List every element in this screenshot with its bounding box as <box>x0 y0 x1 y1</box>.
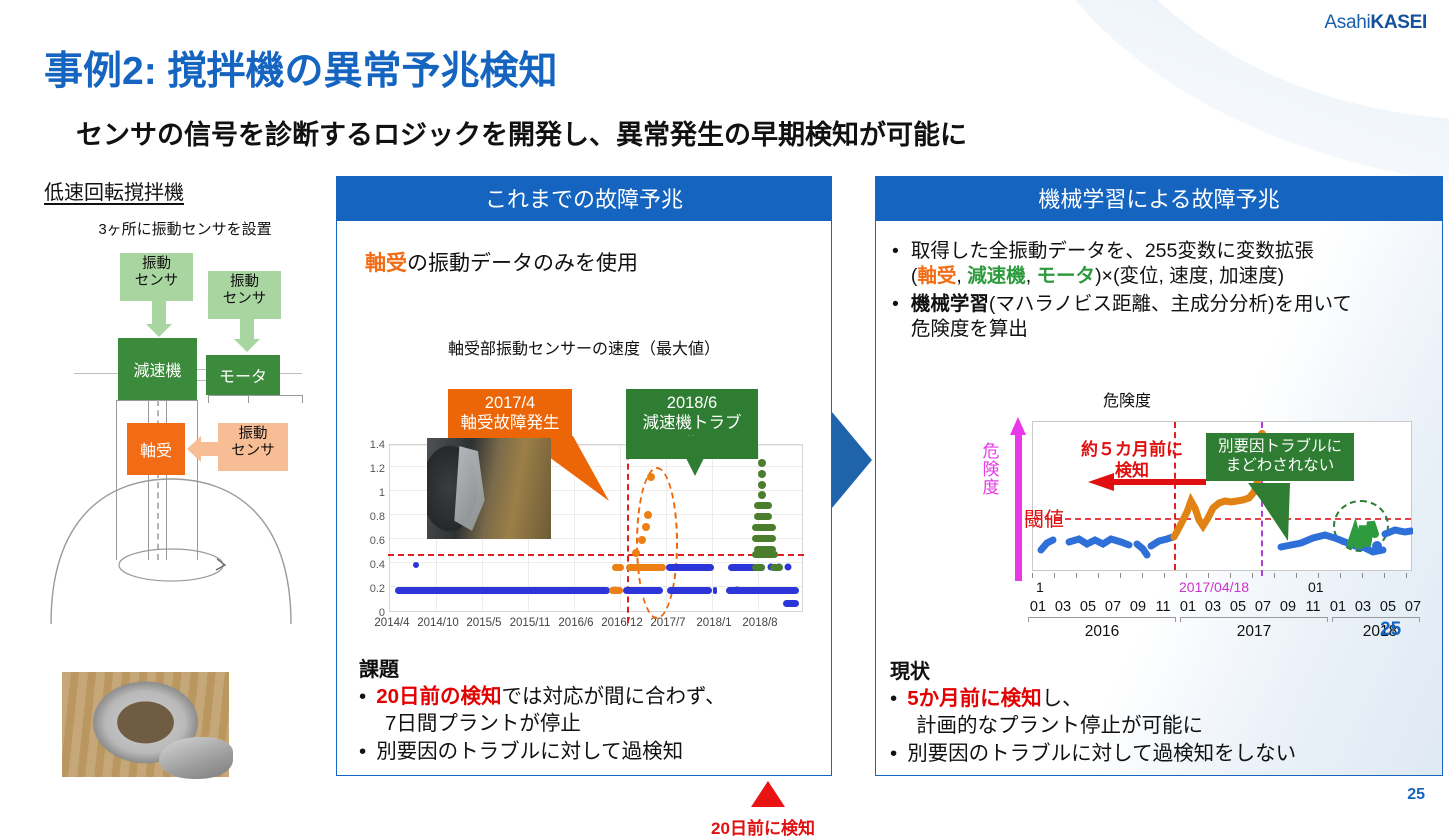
panel-conventional: これまでの故障予兆 軸受の振動データのみを使用 軸受部振動センサーの速度（最大値… <box>336 176 832 776</box>
bearing-block: 軸受 <box>127 423 185 475</box>
list-item: 計画的なプラント停止が可能に <box>890 713 1296 739</box>
month-tick: 07 <box>1255 599 1271 615</box>
agitator-diagram: 振動 センサ 振動 センサ 減速機 モータ 軸受 振動 センサ <box>40 247 330 637</box>
page-subtitle: センサの信号を診断するロジックを開発し、異常発生の早期検知が可能に <box>76 113 967 152</box>
bullet-glyph: • <box>890 686 897 712</box>
term-bearing: 軸受 <box>917 265 956 287</box>
bullet-text: 計画的なプラント停止が可能に <box>916 713 1203 739</box>
risk-axis-label: 危険度 <box>980 443 1002 497</box>
year-label: 2017 <box>1237 623 1271 641</box>
bearing-damage-photo <box>427 438 551 539</box>
lead-highlight: 軸受 <box>365 252 407 275</box>
bullet-glyph: • <box>890 741 897 767</box>
month-tick: 03 <box>1055 599 1071 615</box>
mid-chart-title: 軸受部振動センサーの速度（最大値） <box>337 335 831 359</box>
xtick: 2018/8 <box>742 617 777 629</box>
lead-rest: の振動データのみを使用 <box>407 252 638 275</box>
label-sensor-top-left: 振動 センサ <box>120 253 193 301</box>
year-bracket-2017 <box>1180 617 1328 622</box>
term-machine-learning: 機械学習 <box>911 293 989 315</box>
term-gearbox: 減速機 <box>967 265 1026 287</box>
bullet-text: 7日間プラントが停止 <box>385 711 581 737</box>
list-item: • 機械学習(マハラノビス距離、主成分分析)を用いて 危険度を算出 <box>892 292 1432 343</box>
month-tick: 03 <box>1205 599 1221 615</box>
ml-summary-heading: 現状 <box>890 655 1296 684</box>
bullet-text: 別要因のトラブルに対して過検知 <box>376 739 683 765</box>
risk-axis-char2: 険 <box>983 460 1000 479</box>
month-tick: 07 <box>1105 599 1121 615</box>
callout-false-alarm-leader <box>1248 483 1308 545</box>
vessel-outline <box>46 469 296 629</box>
bullet-text: 機械学習(マハラノビス距離、主成分分析)を用いて 危険度を算出 <box>911 292 1352 343</box>
month-tick: 07 <box>1405 599 1421 615</box>
ytick: 1.4 <box>370 439 385 451</box>
detection-marker-label: 20日前に検知 <box>693 814 833 839</box>
conventional-summary-heading: 課題 <box>359 653 726 682</box>
risk-axis-char1: 危 <box>983 442 1000 461</box>
callout-false-alarm: 別要因トラブルに まどわされない <box>1206 433 1354 481</box>
label-sensor-top-right: 振動 センサ <box>208 271 281 319</box>
frame-right-post4 <box>302 395 303 403</box>
month-tick: 01 <box>1180 599 1196 615</box>
list-item: • 取得した全振動データを、255変数に変数拡張 (軸受, 減速機, モータ)×… <box>892 239 1432 290</box>
month-tick: 03 <box>1355 599 1371 615</box>
bullet-glyph: • <box>359 739 366 765</box>
panel-conventional-header: これまでの故障予兆 <box>337 177 831 221</box>
month-tick: 05 <box>1230 599 1246 615</box>
year-row: 2016 2017 2018 <box>1028 621 1420 643</box>
bullet-text: 取得した全振動データを、255変数に変数拡張 (軸受, 減速機, モータ)×(変… <box>911 239 1314 290</box>
bullet-text: 別要因のトラブルに対して過検知をしない <box>907 741 1296 767</box>
xtick: 2015/11 <box>510 617 551 629</box>
conventional-summary: 課題 •20日前の検知では対応が間に合わず、 7日間プラントが停止 •別要因のト… <box>359 653 726 765</box>
list-item: 7日間プラントが停止 <box>359 711 726 737</box>
shaft-connector-left <box>74 373 118 374</box>
early-detection-arrow-icon <box>1088 473 1206 491</box>
month-tick: 11 <box>1155 599 1170 615</box>
ytick: 0.4 <box>370 559 385 571</box>
month-tick: 09 <box>1280 599 1296 615</box>
panel-ml-header: 機械学習による故障予兆 <box>876 177 1442 221</box>
term-motor: モータ <box>1037 265 1096 287</box>
risk-axis-char3: 度 <box>983 478 1000 497</box>
bearing-photo <box>62 672 229 777</box>
list-item: •5か月前に検知し、 <box>890 686 1296 712</box>
axis-label-start: 1 <box>1036 579 1044 595</box>
risk-axis-arrow-icon <box>1010 417 1026 581</box>
asahi-kasei-logo: AsahiKASEI <box>1324 12 1427 34</box>
ytick: 1.2 <box>370 463 385 475</box>
shaft-connector-mid2 <box>197 380 206 381</box>
month-tick: 05 <box>1080 599 1096 615</box>
conventional-bullet-list: •20日前の検知では対応が間に合わず、 7日間プラントが停止 •別要因のトラブル… <box>359 684 726 765</box>
axis-label-mid: 01 <box>1308 579 1324 595</box>
ytick: 1 <box>379 487 385 499</box>
shaft-connector-mid <box>197 369 206 370</box>
motor-block: モータ <box>206 355 280 395</box>
callout-green-leader <box>675 436 725 480</box>
xtick: 2015/5 <box>466 617 501 629</box>
xtick: 2014/4 <box>374 617 409 629</box>
panel-machine-learning: 機械学習による故障予兆 • 取得した全振動データを、255変数に変数拡張 (軸受… <box>875 176 1443 776</box>
bullet-glyph: • <box>892 239 899 290</box>
xtick: 2014/10 <box>417 617 459 629</box>
sensor-placement-note: 3ヶ所に振動センサを設置 <box>40 218 330 239</box>
label-sensor-bearing: 振動 センサ <box>218 423 288 471</box>
bullet-glyph: • <box>359 684 366 710</box>
month-tick: 09 <box>1130 599 1146 615</box>
frame-right-post2 <box>208 395 209 403</box>
year-bracket-2016 <box>1028 617 1176 622</box>
panel-ml-body: • 取得した全振動データを、255変数に変数拡張 (軸受, 減速機, モータ)×… <box>876 221 1442 781</box>
panel-conventional-body: 軸受の振動データのみを使用 軸受部振動センサーの速度（最大値） 1.4 1.2 … <box>337 221 831 781</box>
machine-heading: 低速回転撹拌機 <box>40 176 330 205</box>
ml-summary: 現状 •5か月前に検知し、 計画的なプラント停止が可能に •別要因のトラブルに対… <box>890 655 1296 767</box>
month-tick: 01 <box>1030 599 1046 615</box>
frame-right-post3 <box>248 395 249 403</box>
threshold-label: 閾値 <box>1024 503 1064 532</box>
year-bracket-2018 <box>1332 617 1420 622</box>
ml-bullet-list: • 取得した全振動データを、255変数に変数拡張 (軸受, 減速機, モータ)×… <box>892 237 1432 343</box>
shaft-connector-right <box>280 373 302 374</box>
ml-bullet-list-bottom: •5か月前に検知し、 計画的なプラント停止が可能に •別要因のトラブルに対して過… <box>890 686 1296 767</box>
slide-page-number: 25 <box>1407 786 1425 804</box>
ytick: 0.6 <box>370 535 385 547</box>
logo-light-text: Asahi <box>1324 12 1370 33</box>
bullet-glyph: • <box>892 292 899 343</box>
list-item: •別要因のトラブルに対して過検知 <box>359 739 726 765</box>
left-column: 低速回転撹拌機 3ヶ所に振動センサを設置 振動 センサ 振動 センサ 減速機 モ… <box>40 176 330 637</box>
bullet-text: 20日前の検知では対応が間に合わず、 <box>376 684 725 710</box>
axis-label-event-date: 2017/04/18 <box>1179 579 1249 595</box>
ytick: 0.8 <box>370 511 385 523</box>
logo-bold-text: KASEI <box>1370 12 1427 33</box>
callout-bearing-failure: 2017/4 軸受故障発生 <box>448 389 572 440</box>
conventional-lead-text: 軸受の振動データのみを使用 <box>365 247 638 277</box>
xtick: 2016/12 <box>601 617 643 629</box>
detection-marker-triangle <box>751 781 785 807</box>
bullet-text: 5か月前に検知し、 <box>907 686 1082 712</box>
month-tick: 05 <box>1380 599 1396 615</box>
right-chart-title: 危険度 <box>876 387 1378 411</box>
xtick: 2018/1 <box>696 617 731 629</box>
xtick: 2016/6 <box>558 617 593 629</box>
inline-page-number: 25 <box>1380 619 1401 641</box>
ytick: 0.2 <box>370 583 385 595</box>
month-tick: 01 <box>1330 599 1346 615</box>
flow-arrow-icon <box>832 412 872 508</box>
gearbox-block: 減速機 <box>118 338 197 400</box>
frame-top-bar-right <box>208 395 302 396</box>
year-label: 2016 <box>1085 623 1119 641</box>
list-item: •別要因のトラブルに対して過検知をしない <box>890 741 1296 767</box>
month-tick: 11 <box>1305 599 1320 615</box>
page-title: 事例2: 撹拌機の異常予兆検知 <box>44 40 558 96</box>
month-tick-row: 01 03 05 07 09 11 01 03 05 07 09 11 01 0… <box>1028 599 1420 619</box>
list-item: •20日前の検知では対応が間に合わず、 <box>359 684 726 710</box>
